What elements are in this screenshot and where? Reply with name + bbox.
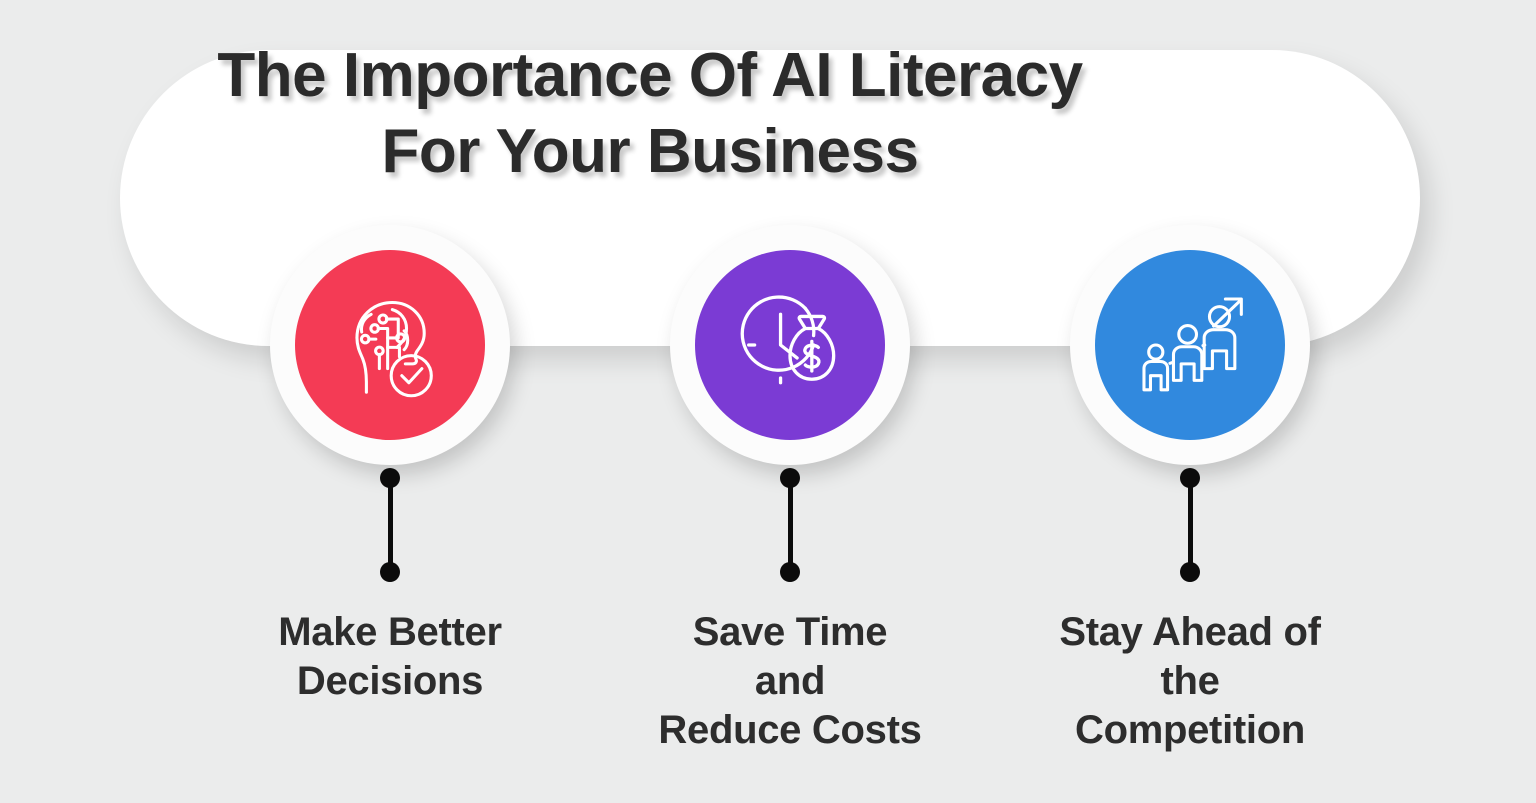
connector-2 [790, 468, 791, 582]
caption-line: Make Better [240, 608, 540, 657]
caption-stay-ahead-of-competition: Stay Ahead of the Competition [1040, 608, 1340, 755]
connector-line-2 [788, 478, 793, 572]
brain-circuit-head-check-icon [331, 286, 449, 404]
connector-dot-bottom-1 [380, 562, 400, 582]
caption-line: Stay Ahead of [1040, 608, 1340, 657]
caption-line: Reduce Costs [640, 706, 940, 755]
page-title-line-1: The Importance Of AI Literacy [0, 38, 1300, 114]
connector-dot-bottom-3 [1180, 562, 1200, 582]
connector-dot-bottom-2 [780, 562, 800, 582]
caption-line: Save Time [640, 608, 940, 657]
clock-money-bag-icon [731, 286, 849, 404]
caption-make-better-decisions: Make Better Decisions [240, 608, 540, 706]
caption-line: the [1040, 657, 1340, 706]
people-growth-arrow-icon [1131, 286, 1249, 404]
caption-line: Competition [1040, 706, 1340, 755]
page-title: The Importance Of AI Literacy For Your B… [0, 38, 1300, 190]
icon-badge-stay-ahead-of-competition[interactable] [1095, 250, 1285, 440]
page-title-line-2: For Your Business [0, 114, 1300, 190]
caption-line: and [640, 657, 940, 706]
connector-3 [1190, 468, 1191, 582]
icon-badge-save-time-reduce-costs[interactable] [695, 250, 885, 440]
icon-badge-make-better-decisions[interactable] [295, 250, 485, 440]
connector-1 [390, 468, 391, 582]
caption-line: Decisions [240, 657, 540, 706]
caption-save-time-reduce-costs: Save Time and Reduce Costs [640, 608, 940, 755]
infographic-canvas: The Importance Of AI Literacy For Your B… [0, 0, 1536, 803]
connector-line-1 [388, 478, 393, 572]
connector-line-3 [1188, 478, 1193, 572]
